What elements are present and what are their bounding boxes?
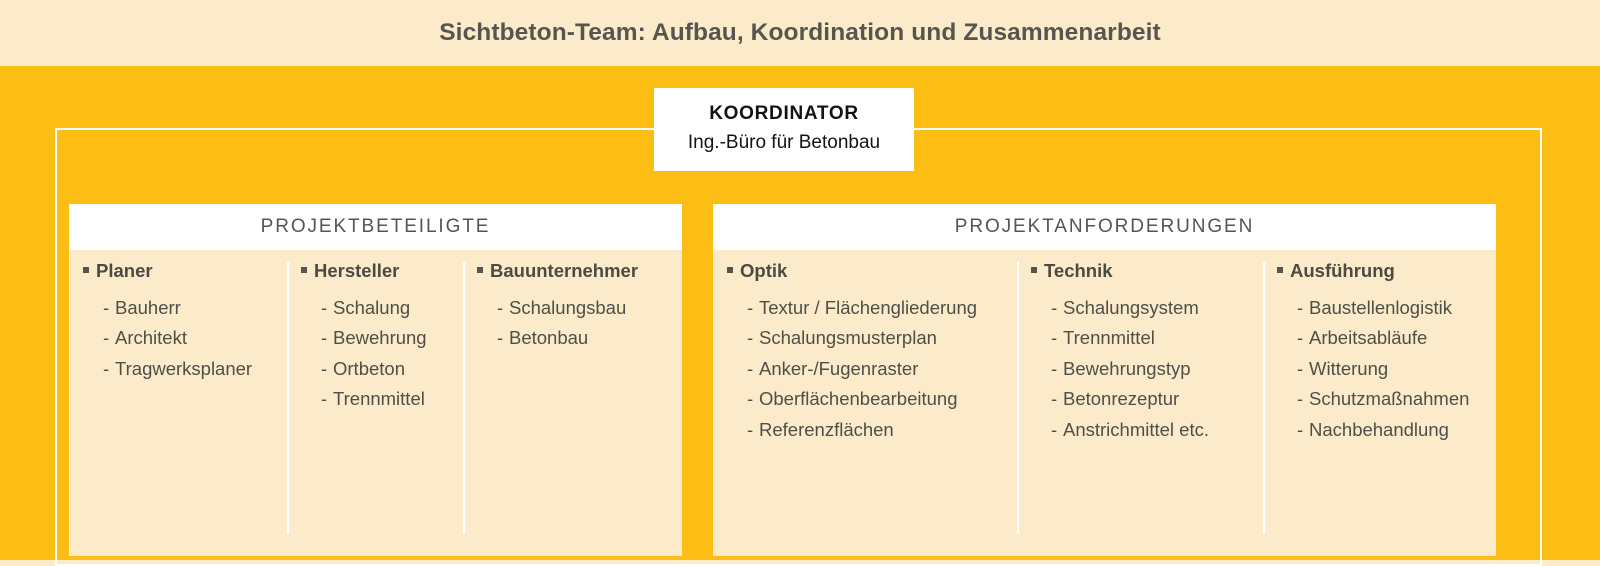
panel-projektanforderungen: PROJEKTANFORDERUNGEN Optik -Textur / Flä… xyxy=(713,204,1496,556)
column-optik: Optik -Textur / Flächengliederung -Schal… xyxy=(713,262,1017,556)
item-list-technik: -Schalungsystem -Trennmittel -Bewehrungs… xyxy=(1031,293,1257,446)
column-technik: Technik -Schalungsystem -Trennmittel -Be… xyxy=(1017,262,1263,556)
list-item-label: Trennmittel xyxy=(1063,327,1155,348)
title-band: Sichtbeton-Team: Aufbau, Koordination un… xyxy=(0,0,1600,66)
panel-header-projektanforderungen: PROJEKTANFORDERUNGEN xyxy=(713,204,1496,250)
koordinator-title: KOORDINATOR xyxy=(709,102,859,127)
page-title: Sichtbeton-Team: Aufbau, Koordination un… xyxy=(439,19,1161,47)
dash-marker: - xyxy=(321,293,333,324)
list-item-label: Schalungsbau xyxy=(509,297,626,318)
panel-body-projektbeteiligte: Planer -Bauherr -Architekt -Tragwerkspla… xyxy=(69,250,682,556)
list-item: -Schutzmaßnahmen xyxy=(1277,384,1487,415)
list-item-label: Anstrichmittel etc. xyxy=(1063,419,1209,440)
dash-marker: - xyxy=(497,293,509,324)
panel-header-label: PROJEKTANFORDERUNGEN xyxy=(955,216,1254,238)
dash-marker: - xyxy=(1297,354,1309,385)
list-item: -Schalungsystem xyxy=(1031,293,1257,324)
group-title-optik: Optik xyxy=(727,262,1011,281)
dash-marker: - xyxy=(497,323,509,354)
list-item: -Arbeitsabläufe xyxy=(1277,323,1487,354)
list-item: -Schalungsbau xyxy=(477,293,657,324)
list-item: -Witterung xyxy=(1277,354,1487,385)
list-item: -Anker-/Fugenraster xyxy=(727,354,1011,385)
list-item-label: Ortbeton xyxy=(333,358,405,379)
list-item-label: Bauherr xyxy=(115,297,181,318)
square-bullet-icon xyxy=(83,267,89,273)
list-item-label: Bewehrungstyp xyxy=(1063,358,1191,379)
group-title-label: Hersteller xyxy=(314,262,399,281)
dash-marker: - xyxy=(1051,384,1063,415)
dash-marker: - xyxy=(747,323,759,354)
column-hersteller: Hersteller -Schalung -Bewehrung -Ortbeto… xyxy=(287,262,463,556)
list-item: -Ortbeton xyxy=(301,354,457,385)
square-bullet-icon xyxy=(1277,267,1283,273)
list-item: -Anstrichmittel etc. xyxy=(1031,415,1257,446)
panel-body-projektanforderungen: Optik -Textur / Flächengliederung -Schal… xyxy=(713,250,1496,556)
dash-marker: - xyxy=(1297,323,1309,354)
square-bullet-icon xyxy=(477,267,483,273)
list-item-label: Betonbau xyxy=(509,327,588,348)
list-item-label: Schutzmaßnahmen xyxy=(1309,388,1469,409)
dash-marker: - xyxy=(1297,293,1309,324)
list-item: -Bauherr xyxy=(83,293,281,324)
item-list-hersteller: -Schalung -Bewehrung -Ortbeton -Trennmit… xyxy=(301,293,457,415)
list-item: -Betonrezeptur xyxy=(1031,384,1257,415)
dash-marker: - xyxy=(321,384,333,415)
koordinator-subtitle: Ing.-Büro für Betonbau xyxy=(688,129,880,157)
panel-projektbeteiligte: PROJEKTBETEILIGTE Planer -Bauherr -Archi… xyxy=(69,204,682,556)
panel-header-projektbeteiligte: PROJEKTBETEILIGTE xyxy=(69,204,682,250)
dash-marker: - xyxy=(1051,354,1063,385)
list-item: -Schalung xyxy=(301,293,457,324)
list-item-label: Textur / Flächengliederung xyxy=(759,297,977,318)
group-title-bauunternehmer: Bauunternehmer xyxy=(477,262,657,281)
group-title-label: Ausführung xyxy=(1290,262,1395,281)
item-list-ausfuehrung: -Baustellenlogistik -Arbeitsabläufe -Wit… xyxy=(1277,293,1487,446)
list-item: -Textur / Flächengliederung xyxy=(727,293,1011,324)
group-title-label: Bauunternehmer xyxy=(490,262,638,281)
dash-marker: - xyxy=(747,384,759,415)
square-bullet-icon xyxy=(727,267,733,273)
list-item: -Nachbehandlung xyxy=(1277,415,1487,446)
square-bullet-icon xyxy=(301,267,307,273)
column-bauunternehmer: Bauunternehmer -Schalungsbau -Betonbau xyxy=(463,262,663,556)
group-title-technik: Technik xyxy=(1031,262,1257,281)
group-title-label: Optik xyxy=(740,262,787,281)
dash-marker: - xyxy=(103,323,115,354)
yellow-canvas: KOORDINATOR Ing.-Büro für Betonbau PROJE… xyxy=(0,66,1600,560)
list-item: -Oberflächenbearbeitung xyxy=(727,384,1011,415)
square-bullet-icon xyxy=(1031,267,1037,273)
list-item-label: Witterung xyxy=(1309,358,1388,379)
list-item: -Tragwerksplaner xyxy=(83,354,281,385)
list-item-label: Schalung xyxy=(333,297,410,318)
dash-marker: - xyxy=(747,354,759,385)
koordinator-box: KOORDINATOR Ing.-Büro für Betonbau xyxy=(654,88,914,171)
group-title-ausfuehrung: Ausführung xyxy=(1277,262,1487,281)
dash-marker: - xyxy=(747,293,759,324)
list-item: -Bewehrung xyxy=(301,323,457,354)
dash-marker: - xyxy=(103,293,115,324)
dash-marker: - xyxy=(1297,415,1309,446)
group-title-label: Technik xyxy=(1044,262,1113,281)
column-ausfuehrung: Ausführung -Baustellenlogistik -Arbeitsa… xyxy=(1263,262,1493,556)
list-item-label: Trennmittel xyxy=(333,388,425,409)
list-item: -Referenzflächen xyxy=(727,415,1011,446)
dash-marker: - xyxy=(1051,293,1063,324)
list-item-label: Arbeitsabläufe xyxy=(1309,327,1427,348)
list-item-label: Architekt xyxy=(115,327,187,348)
list-item-label: Schalungsystem xyxy=(1063,297,1199,318)
dash-marker: - xyxy=(1051,415,1063,446)
dash-marker: - xyxy=(747,415,759,446)
group-title-planer: Planer xyxy=(83,262,281,281)
item-list-optik: -Textur / Flächengliederung -Schalungsmu… xyxy=(727,293,1011,446)
list-item-label: Bewehrung xyxy=(333,327,427,348)
item-list-bauunternehmer: -Schalungsbau -Betonbau xyxy=(477,293,657,354)
list-item: -Schalungsmusterplan xyxy=(727,323,1011,354)
list-item: -Trennmittel xyxy=(1031,323,1257,354)
dash-marker: - xyxy=(1297,384,1309,415)
column-planer: Planer -Bauherr -Architekt -Tragwerkspla… xyxy=(69,262,287,556)
list-item-label: Tragwerksplaner xyxy=(115,358,252,379)
dash-marker: - xyxy=(1051,323,1063,354)
list-item-label: Anker-/Fugenraster xyxy=(759,358,918,379)
infographic-root: Sichtbeton-Team: Aufbau, Koordination un… xyxy=(0,0,1600,560)
list-item-label: Nachbehandlung xyxy=(1309,419,1449,440)
list-item-label: Betonrezeptur xyxy=(1063,388,1179,409)
dash-marker: - xyxy=(103,354,115,385)
list-item: -Baustellenlogistik xyxy=(1277,293,1487,324)
list-item-label: Baustellenlogistik xyxy=(1309,297,1452,318)
list-item-label: Oberflächenbearbeitung xyxy=(759,388,958,409)
list-item: -Trennmittel xyxy=(301,384,457,415)
list-item: -Bewehrungstyp xyxy=(1031,354,1257,385)
group-title-hersteller: Hersteller xyxy=(301,262,457,281)
dash-marker: - xyxy=(321,323,333,354)
list-item: -Betonbau xyxy=(477,323,657,354)
group-title-label: Planer xyxy=(96,262,153,281)
item-list-planer: -Bauherr -Architekt -Tragwerksplaner xyxy=(83,293,281,385)
dash-marker: - xyxy=(321,354,333,385)
list-item: -Architekt xyxy=(83,323,281,354)
panel-header-label: PROJEKTBETEILIGTE xyxy=(261,216,491,238)
list-item-label: Referenzflächen xyxy=(759,419,894,440)
list-item-label: Schalungsmusterplan xyxy=(759,327,937,348)
